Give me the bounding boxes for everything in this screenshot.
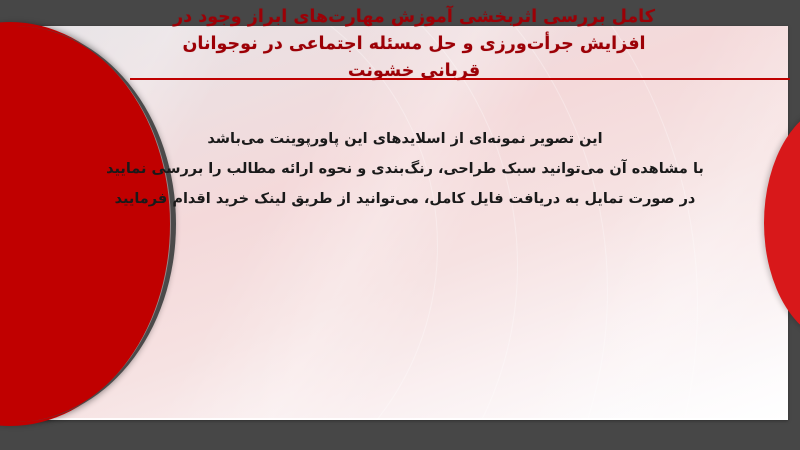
slide-title-line-3: قربانی خشونت [40,58,788,85]
slide-title: کامل بررسی اثربخشی آموزش مهارت‌های ابراز… [40,4,788,85]
slide-body-line-1: این تصویر نمونه‌ای از اسلایدهای این پاور… [60,124,750,154]
slide-body-line-2: با مشاهده آن می‌توانید سبک طراحی، رنگ‌بن… [60,154,750,184]
slide-body-text: این تصویر نمونه‌ای از اسلایدهای این پاور… [60,124,750,214]
panel-bottom-highlight [38,418,788,420]
slide-body-line-3: در صورت تمایل به دریافت فایل کامل، می‌تو… [60,184,750,214]
slide-canvas: کامل بررسی اثربخشی آموزش مهارت‌های ابراز… [0,0,800,450]
title-underline-rule [130,78,790,80]
slide-title-line-2: افزایش جرأت‌ورزی و حل مسئله اجتماعی در ن… [40,31,788,58]
slide-title-line-1: کامل بررسی اثربخشی آموزش مهارت‌های ابراز… [40,4,788,31]
